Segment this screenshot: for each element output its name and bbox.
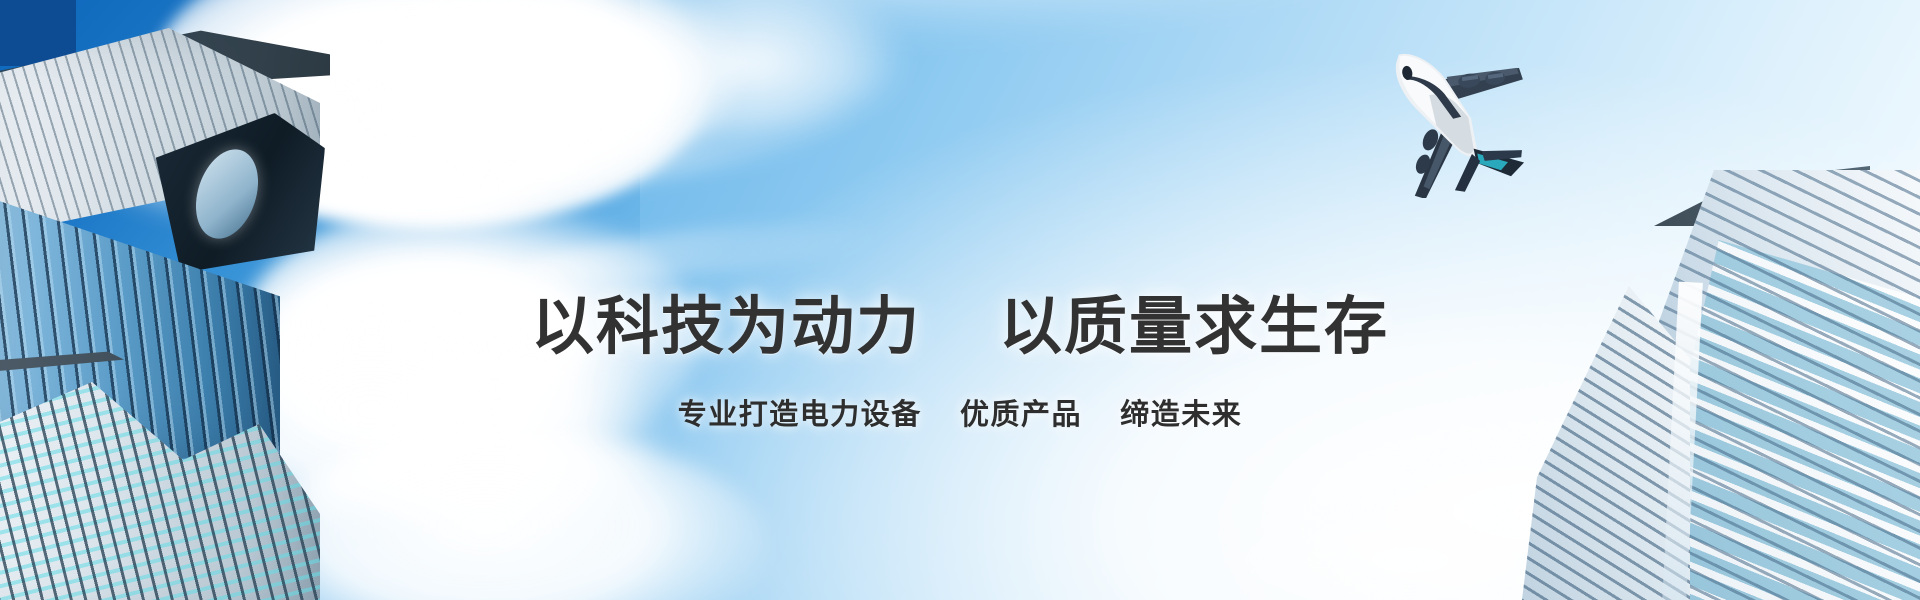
banner-headline: 以科技为动力 以质量求生存 (0, 296, 1920, 359)
hero-banner: 以科技为动力 以质量求生存 专业打造电力设备 优质产品 缔造未来 (0, 0, 1920, 600)
airplane-icon (1352, 18, 1552, 198)
airplane (1352, 18, 1552, 198)
bottom-haze (250, 0, 1450, 40)
banner-copy: 以科技为动力 以质量求生存 专业打造电力设备 优质产品 缔造未来 (0, 296, 1920, 430)
banner-subheadline: 专业打造电力设备 优质产品 缔造未来 (0, 401, 1920, 430)
